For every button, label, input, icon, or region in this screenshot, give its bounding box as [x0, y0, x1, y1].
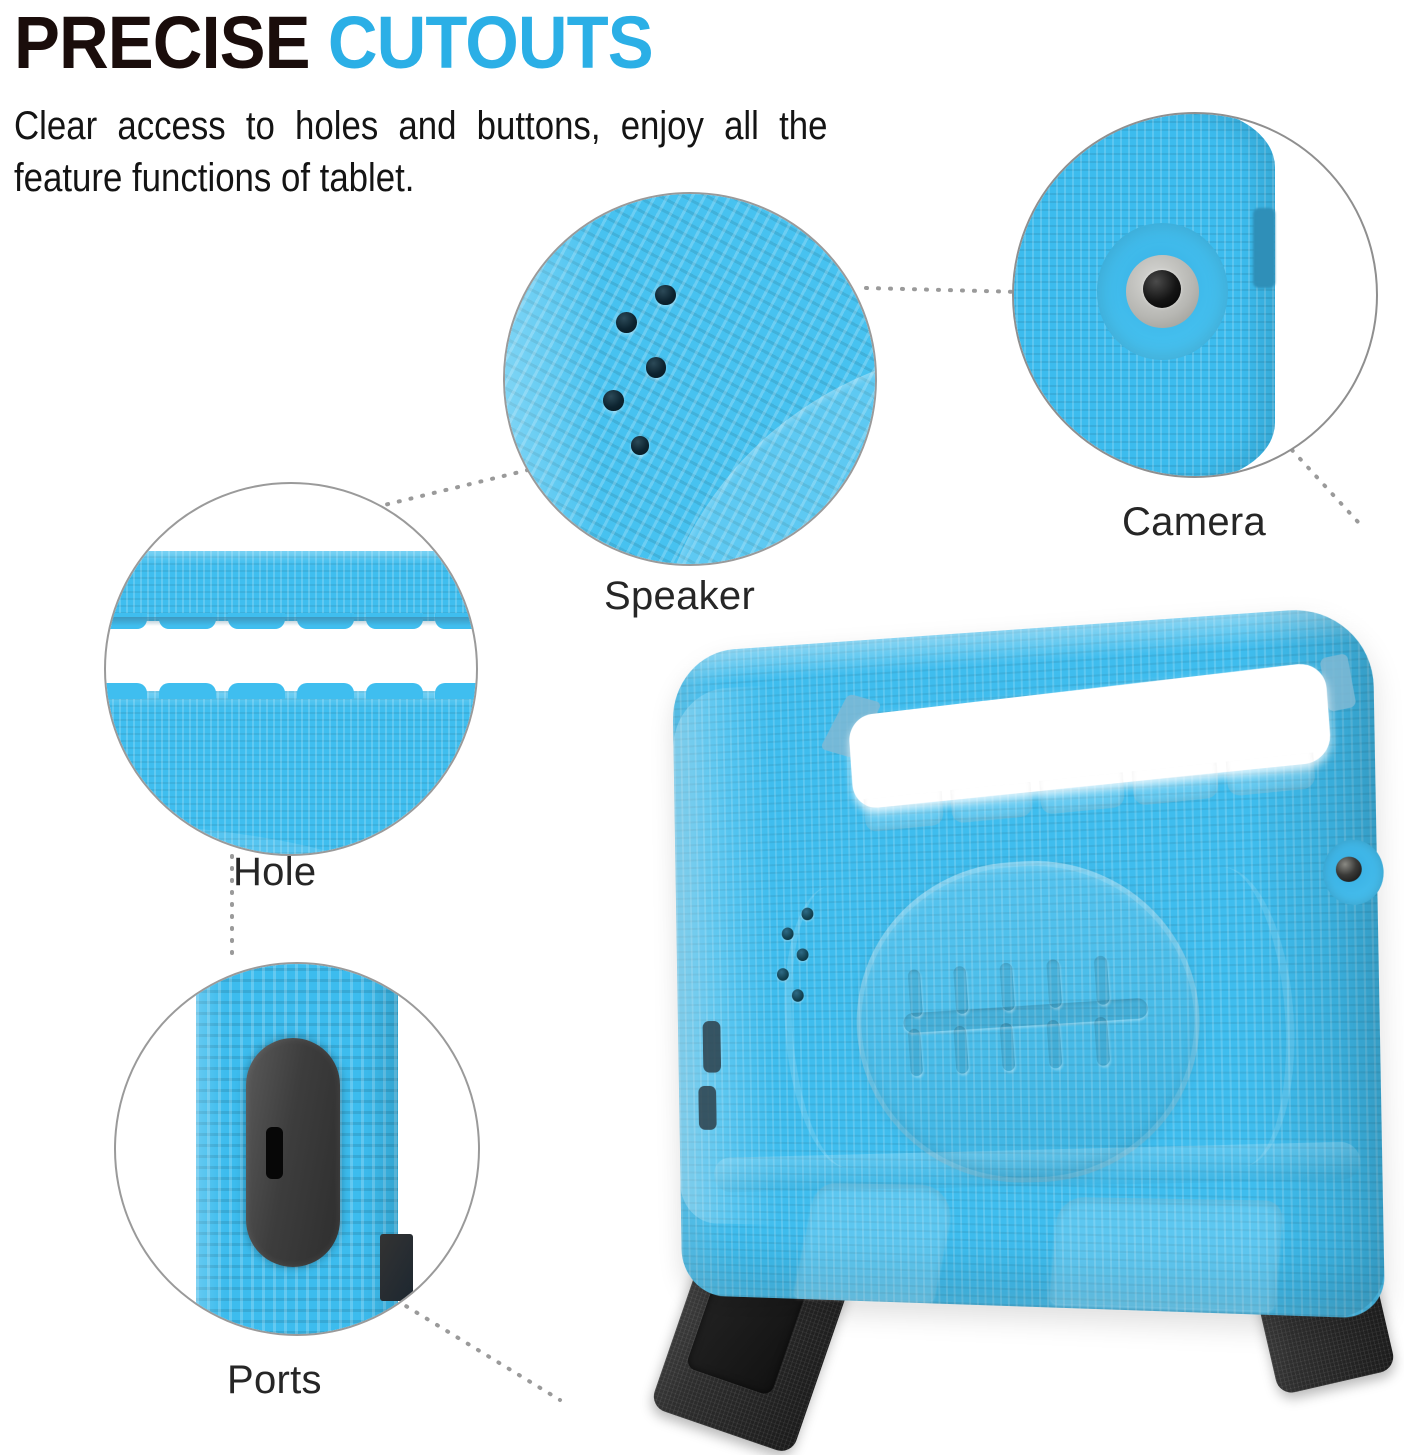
leader-camera-to-product: [1292, 450, 1358, 522]
leader-ports-to-product: [396, 1300, 560, 1400]
port-recess: [246, 1038, 340, 1267]
callout-circle-camera: [1012, 112, 1378, 478]
handle-scallops: [104, 683, 478, 699]
speaker-hole: [646, 357, 667, 378]
stand-recess-left: [794, 1183, 958, 1301]
shell-left-face: [673, 685, 780, 1225]
football-laces-emboss: [899, 939, 1153, 1095]
callout-label-ports: Ports: [227, 1358, 322, 1403]
stand-recess-right: [1049, 1197, 1283, 1311]
speaker-hole: [655, 285, 676, 306]
foam-highlight: [505, 194, 601, 564]
product-photo-tablet-case: [630, 598, 1404, 1444]
lace-stitch: [999, 1023, 1015, 1072]
speaker-hole: [603, 390, 624, 411]
lace-stitch: [1046, 1020, 1062, 1069]
callout-circle-speaker: [503, 192, 877, 566]
lace-stitch: [908, 1028, 923, 1076]
lace-stitch: [1094, 956, 1110, 1005]
lace-stitch: [908, 969, 923, 1017]
kickstand-tab: [380, 1234, 413, 1301]
case-shell: [672, 605, 1385, 1319]
camera-lens-icon: [1143, 270, 1181, 308]
speaker-hole: [631, 436, 650, 455]
lace-stitch: [953, 966, 969, 1014]
callout-label-hole: Hole: [233, 850, 316, 895]
speaker-hole: [792, 989, 804, 1002]
port-slot-icon: [266, 1127, 283, 1179]
callout-circle-ports: [114, 962, 480, 1336]
leader-speaker-to-camera: [866, 288, 1022, 292]
callout-circle-hole: [104, 482, 478, 856]
lace-stitch: [1094, 1017, 1110, 1066]
speaker-hole: [616, 312, 637, 333]
side-button-cutout: [703, 1021, 722, 1073]
foam-side-edge: [1253, 208, 1275, 288]
callout-label-camera: Camera: [1122, 500, 1266, 545]
lace-stitch: [1046, 959, 1062, 1008]
lace-bar: [903, 998, 1149, 1034]
lace-stitch: [953, 1026, 969, 1074]
handle-band-bottom: [104, 691, 478, 856]
side-button-cutout: [698, 1086, 716, 1130]
lace-stitch: [999, 962, 1015, 1011]
speaker-hole: [777, 968, 789, 981]
handle-edge-shadow: [104, 617, 478, 626]
handle-band-top: [104, 551, 478, 621]
